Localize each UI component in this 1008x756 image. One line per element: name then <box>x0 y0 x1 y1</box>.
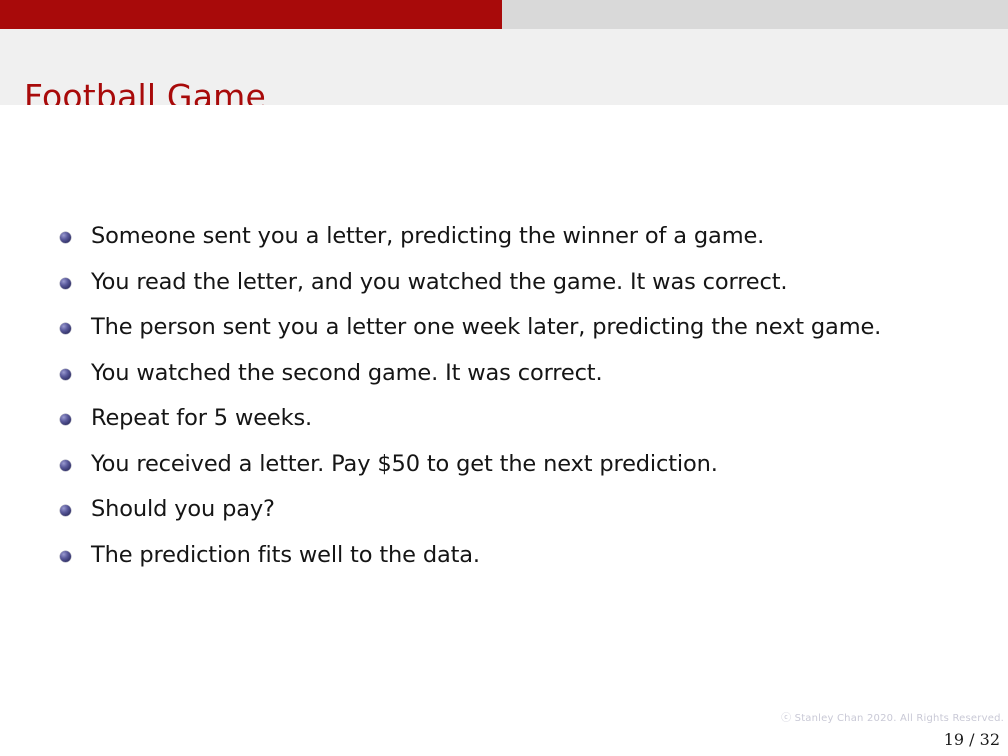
header-accent-bar <box>0 0 502 29</box>
slide-footer: ⓒ Stanley Chan 2020. All Rights Reserved… <box>0 690 1008 756</box>
bullet-point-icon <box>60 278 71 289</box>
header-bar <box>0 0 1008 29</box>
copyright-notice: ⓒ Stanley Chan 2020. All Rights Reserved… <box>781 713 1004 725</box>
list-item: Someone sent you a letter, predicting th… <box>60 222 990 268</box>
list-item: The person sent you a letter one week la… <box>60 313 990 359</box>
list-item: Should you pay? <box>60 495 990 541</box>
bullet-point-icon <box>60 551 71 562</box>
list-item-label: You watched the second game. It was corr… <box>91 359 990 387</box>
bullet-point-icon <box>60 460 71 471</box>
bullet-list: Someone sent you a letter, predicting th… <box>60 222 990 586</box>
list-item: The prediction fits well to the data. <box>60 541 990 587</box>
list-item-label: You received a letter. Pay $50 to get th… <box>91 450 990 478</box>
bullet-point-icon <box>60 232 71 243</box>
list-item: You read the letter, and you watched the… <box>60 268 990 314</box>
bullet-point-icon <box>60 505 71 516</box>
list-item: You watched the second game. It was corr… <box>60 359 990 405</box>
list-item: Repeat for 5 weeks. <box>60 404 990 450</box>
list-item-label: Should you pay? <box>91 495 990 523</box>
list-item-label: The prediction fits well to the data. <box>91 541 990 569</box>
bullet-point-icon <box>60 414 71 425</box>
slide-content: Someone sent you a letter, predicting th… <box>0 105 1008 690</box>
list-item-label: Repeat for 5 weeks. <box>91 404 990 432</box>
title-band: Football Game <box>0 29 1008 105</box>
bullet-point-icon <box>60 323 71 334</box>
list-item: You received a letter. Pay $50 to get th… <box>60 450 990 496</box>
list-item-label: Someone sent you a letter, predicting th… <box>91 222 990 250</box>
list-item-label: You read the letter, and you watched the… <box>91 268 990 296</box>
bullet-point-icon <box>60 369 71 380</box>
list-item-label: The person sent you a letter one week la… <box>91 313 990 341</box>
page-number: 19 / 32 <box>944 730 1000 750</box>
